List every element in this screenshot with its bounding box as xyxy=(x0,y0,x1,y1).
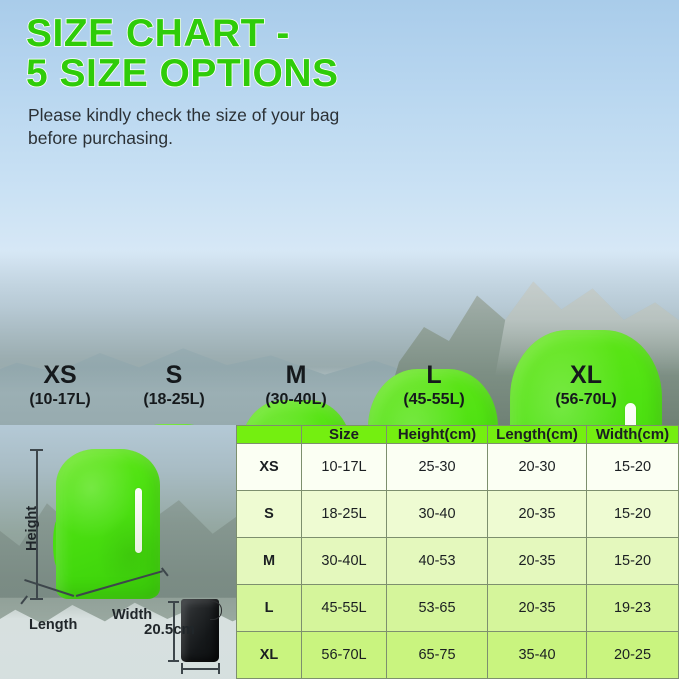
size-name: XS xyxy=(8,362,112,388)
cell-height: 30-40 xyxy=(387,491,488,538)
size-capacity: (56-70L) xyxy=(534,390,638,410)
cell-height: 40-53 xyxy=(387,538,488,585)
cell-height: 53-65 xyxy=(387,585,488,632)
cell-capacity: 10-17L xyxy=(302,444,387,491)
pouch-width-cap-left xyxy=(181,663,183,674)
cell-height: 65-75 xyxy=(387,632,488,679)
cell-width: 15-20 xyxy=(587,538,679,585)
bottom-panel: Height Length Width 20.5cm 13.5cm xyxy=(0,425,679,679)
size-label-xs: XS (10-17L) xyxy=(8,362,112,410)
cell-height: 25-30 xyxy=(387,444,488,491)
cell-capacity: 30-40L xyxy=(302,538,387,585)
cell-length: 35-40 xyxy=(488,632,587,679)
size-capacity: (45-55L) xyxy=(382,390,486,410)
size-chart-page: SIZE CHART - 5 SIZE OPTIONS Please kindl… xyxy=(0,0,679,679)
headline-line-1: SIZE CHART - xyxy=(26,14,358,54)
table-header-height: Height(cm) xyxy=(387,426,488,444)
size-capacity: (18-25L) xyxy=(122,390,226,410)
pouch-height-cap-bottom xyxy=(168,660,179,662)
row-size-m: M xyxy=(237,538,302,585)
table-header-blank xyxy=(237,426,302,444)
cell-length: 20-35 xyxy=(488,538,587,585)
length-dimension-label: Length xyxy=(29,617,77,633)
size-capacity: (30-40L) xyxy=(244,390,348,410)
size-spec-table: Size Height(cm) Length(cm) Width(cm) XS … xyxy=(236,425,679,679)
cell-capacity: 18-25L xyxy=(302,491,387,538)
cell-length: 20-30 xyxy=(488,444,587,491)
reflective-strip-icon xyxy=(135,488,143,553)
cell-capacity: 45-55L xyxy=(302,585,387,632)
cell-capacity: 56-70L xyxy=(302,632,387,679)
size-name: S xyxy=(122,362,226,388)
cell-width: 20-25 xyxy=(587,632,679,679)
size-name: M xyxy=(244,362,348,388)
size-name: L xyxy=(382,362,486,388)
pouch-width-cap-right xyxy=(218,663,220,674)
cell-width: 19-23 xyxy=(587,585,679,632)
size-name: XL xyxy=(534,362,638,388)
table-row: XL 56-70L 65-75 35-40 20-25 xyxy=(237,632,679,679)
table-header-width: Width(cm) xyxy=(587,426,679,444)
cell-length: 20-35 xyxy=(488,585,587,632)
subtitle-text: Please kindly check the size of your bag… xyxy=(28,104,358,150)
table-row: M 30-40L 40-53 20-35 15-20 xyxy=(237,538,679,585)
size-label-xl: XL (56-70L) xyxy=(534,362,638,410)
headline-line-2: 5 SIZE OPTIONS xyxy=(26,54,358,94)
cell-length: 20-35 xyxy=(488,491,587,538)
row-size-l: L xyxy=(237,585,302,632)
cell-width: 15-20 xyxy=(587,444,679,491)
pouch-height-label: 20.5cm xyxy=(144,621,195,638)
pouch-width-line xyxy=(181,668,219,670)
cell-width: 15-20 xyxy=(587,491,679,538)
row-size-xl: XL xyxy=(237,632,302,679)
size-label-l: L (45-55L) xyxy=(382,362,486,410)
row-size-xs: XS xyxy=(237,444,302,491)
row-size-s: S xyxy=(237,491,302,538)
height-dimension-label: Height xyxy=(24,506,40,551)
size-capacity: (10-17L) xyxy=(8,390,112,410)
table-row: XS 10-17L 25-30 20-30 15-20 xyxy=(237,444,679,491)
title-block: SIZE CHART - 5 SIZE OPTIONS Please kindl… xyxy=(26,14,358,150)
table-header-length: Length(cm) xyxy=(488,426,587,444)
height-dimension-cap-top xyxy=(30,449,43,451)
table-row: S 18-25L 30-40 20-35 15-20 xyxy=(237,491,679,538)
table-header-size: Size xyxy=(302,426,387,444)
pouch-height-cap-top xyxy=(168,601,179,603)
table-header-row: Size Height(cm) Length(cm) Width(cm) xyxy=(237,426,679,444)
height-dimension-cap-bottom xyxy=(30,598,43,600)
table-row: L 45-55L 53-65 20-35 19-23 xyxy=(237,585,679,632)
size-label-s: S (18-25L) xyxy=(122,362,226,410)
size-label-m: M (30-40L) xyxy=(244,362,348,410)
